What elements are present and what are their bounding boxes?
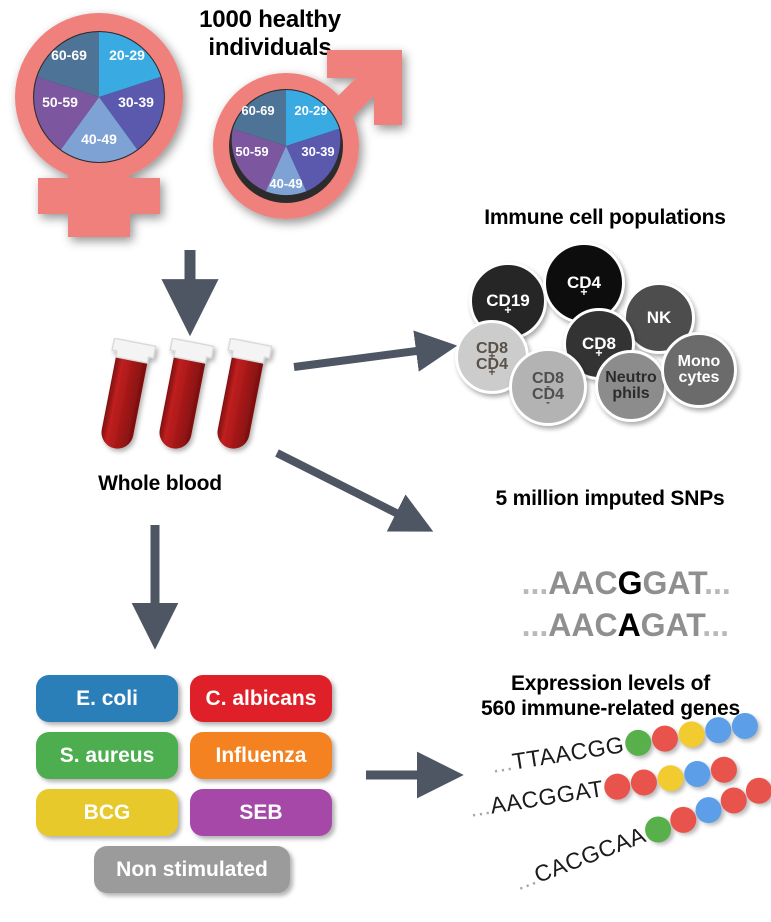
snp-bottom-suffix-dots: ...: [702, 607, 729, 643]
immune-cell-7[interactable]: Neutrophils: [595, 350, 667, 422]
expression-dot-4: [703, 715, 733, 745]
tube-3: [210, 338, 272, 452]
immune-cell-label: CD8+: [582, 335, 616, 352]
snp-bottom-prefix: AAC: [548, 607, 617, 643]
expression-dot-2: [650, 723, 680, 753]
immune-cell-label: CD8+CD4+: [476, 341, 508, 374]
immune-cell-8[interactable]: Monocytes: [661, 332, 737, 408]
snp-bottom-prefix-dots: ...: [522, 607, 549, 643]
expression-dot-5: [709, 754, 739, 784]
figure-canvas: 1000 healthy individuals: [0, 0, 771, 922]
expression-dot-1: [623, 728, 653, 758]
expression-title-line-1: Expression levels of: [455, 672, 766, 697]
stimulation-label: BCG: [84, 801, 131, 825]
immune-cell-label: Neutrophils: [605, 370, 657, 403]
snp-bottom-suffix: GAT: [641, 607, 703, 643]
blood-tubes: [100, 338, 290, 473]
snps-title: 5 million imputed SNPs: [455, 487, 765, 512]
stimulation-label: SEB: [239, 801, 282, 825]
snp-bottom-highlight: A: [618, 607, 641, 643]
stimulation-label: Influenza: [215, 744, 306, 768]
expression-dot-4: [682, 759, 712, 789]
immune-cell-6[interactable]: CD8-CD4-: [509, 348, 587, 426]
stimulation-label: Non stimulated: [116, 858, 268, 882]
stimulation-pill-5[interactable]: BCG: [36, 789, 178, 836]
expression-sequence-text: ...AACGGAT: [468, 775, 605, 823]
immune-cell-label: CD4+: [567, 274, 601, 291]
expression-dot-3: [676, 719, 706, 749]
immune-cell-populations-title: Immune cell populations: [450, 206, 760, 231]
immune-cell-label: NK: [647, 309, 672, 326]
expression-sequence-text: ...TTAACGG: [490, 731, 626, 779]
stimulation-label: C. albicans: [206, 687, 317, 711]
expression-strands: ...TTAACGG...AACGGAT...CACGCAA: [470, 730, 771, 905]
stimulation-pill-2[interactable]: C. albicans: [190, 675, 332, 722]
immune-cell-cluster: CD19+CD4+NKCD8+CD8+CD4+CD8-CD4-Neutrophi…: [455, 240, 771, 420]
tube-1: [100, 338, 156, 452]
expression-sequence-text: ...CACGCAA: [511, 821, 649, 896]
arrow-blood-to-immune: [294, 347, 447, 367]
stimulation-pill-3[interactable]: S. aureus: [36, 732, 178, 779]
stimulation-pill-6[interactable]: SEB: [190, 789, 332, 836]
snp-sequence-bottom: ...AACAGAT...: [486, 570, 729, 681]
stimulation-label: E. coli: [76, 687, 138, 711]
expression-dot-2: [629, 767, 659, 797]
immune-cell-label: CD19+: [486, 292, 529, 309]
immune-cell-label: Monocytes: [678, 354, 721, 387]
expression-dot-3: [656, 763, 686, 793]
stimulation-pill-1[interactable]: E. coli: [36, 675, 178, 722]
arrow-blood-to-snps: [277, 453, 424, 527]
stimulation-label: S. aureus: [60, 744, 155, 768]
whole-blood-label: Whole blood: [60, 472, 260, 497]
stimulation-pill-7[interactable]: Non stimulated: [94, 846, 290, 893]
tube-2: [152, 338, 214, 452]
expression-dot-5: [730, 711, 760, 741]
stimulation-pill-4[interactable]: Influenza: [190, 732, 332, 779]
expression-dot-1: [602, 771, 632, 801]
immune-cell-label: CD8-CD4-: [532, 371, 564, 404]
expression-levels-title: Expression levels of 560 immune-related …: [455, 672, 766, 722]
